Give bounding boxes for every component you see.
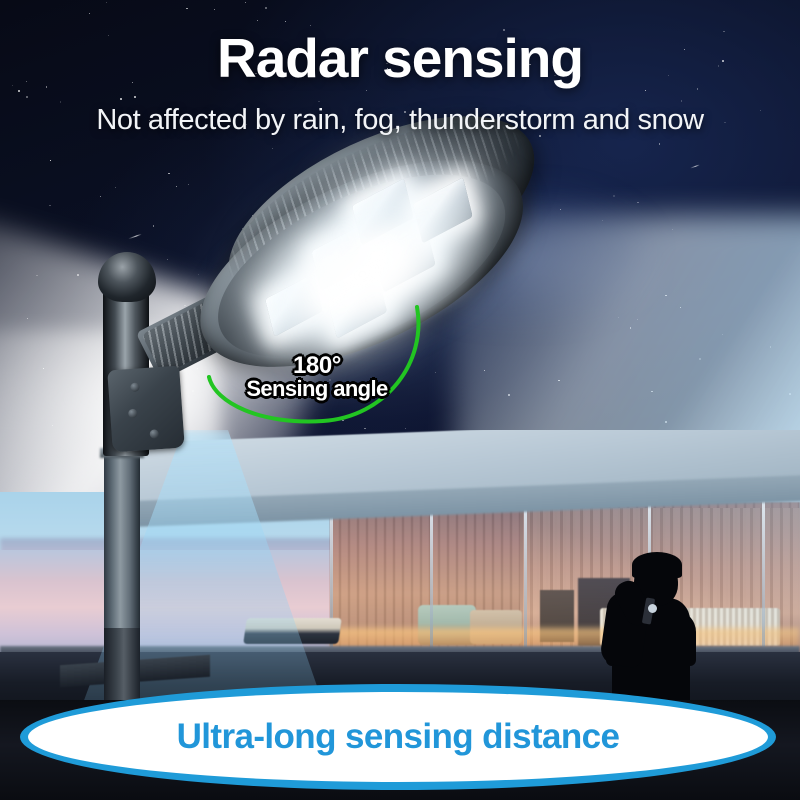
star-icon — [120, 98, 122, 100]
star-icon — [186, 8, 187, 9]
silhouette-hair — [632, 552, 682, 578]
star-icon — [681, 100, 683, 102]
star-icon — [214, 9, 215, 10]
page-subtitle: Not affected by rain, fog, thunderstorm … — [0, 104, 800, 137]
star-icon — [26, 96, 28, 98]
star-icon — [153, 225, 155, 227]
star-icon — [342, 420, 344, 422]
star-icon — [613, 195, 615, 197]
star-icon — [60, 101, 62, 103]
star-icon — [265, 7, 267, 9]
star-icon — [115, 187, 116, 188]
glass-mullion — [430, 500, 433, 662]
bracket-bolt-icon — [130, 382, 140, 392]
bracket-bolt-icon — [149, 429, 159, 439]
glass-facade — [330, 500, 800, 662]
bracket-bolt-icon — [128, 409, 138, 419]
star-icon — [89, 13, 90, 14]
star-icon — [318, 101, 319, 102]
product-poster: 180° Sensing angle Radar sensing Not aff… — [0, 0, 800, 800]
lamp-mounting-bracket — [107, 366, 185, 453]
sensing-angle-value: 180° — [222, 354, 412, 378]
sensing-angle-caption: Sensing angle — [222, 378, 412, 400]
star-icon — [245, 2, 246, 3]
star-icon — [106, 2, 107, 3]
star-icon — [168, 173, 170, 175]
star-icon — [637, 202, 638, 203]
star-icon — [366, 90, 367, 91]
bottom-banner-text: Ultra-long sensing distance — [177, 717, 620, 757]
star-icon — [272, 148, 273, 149]
star-icon — [134, 96, 136, 98]
silhouette-badge — [648, 604, 657, 613]
star-icon — [285, 21, 286, 22]
glass-mullion — [762, 500, 765, 662]
star-icon — [50, 160, 51, 161]
star-icon — [100, 196, 102, 198]
shooting-star-icon — [128, 234, 141, 240]
person-silhouette — [592, 540, 712, 700]
page-title: Radar sensing — [0, 26, 800, 90]
glass-mullion — [524, 500, 527, 662]
sensing-angle-label: 180° Sensing angle — [222, 354, 412, 401]
star-icon — [659, 143, 661, 145]
bottom-banner: Ultra-long sensing distance — [20, 684, 776, 790]
star-icon — [176, 186, 177, 187]
support-pillar-shadow — [104, 628, 140, 702]
star-icon — [188, 184, 189, 185]
star-icon — [49, 205, 51, 207]
